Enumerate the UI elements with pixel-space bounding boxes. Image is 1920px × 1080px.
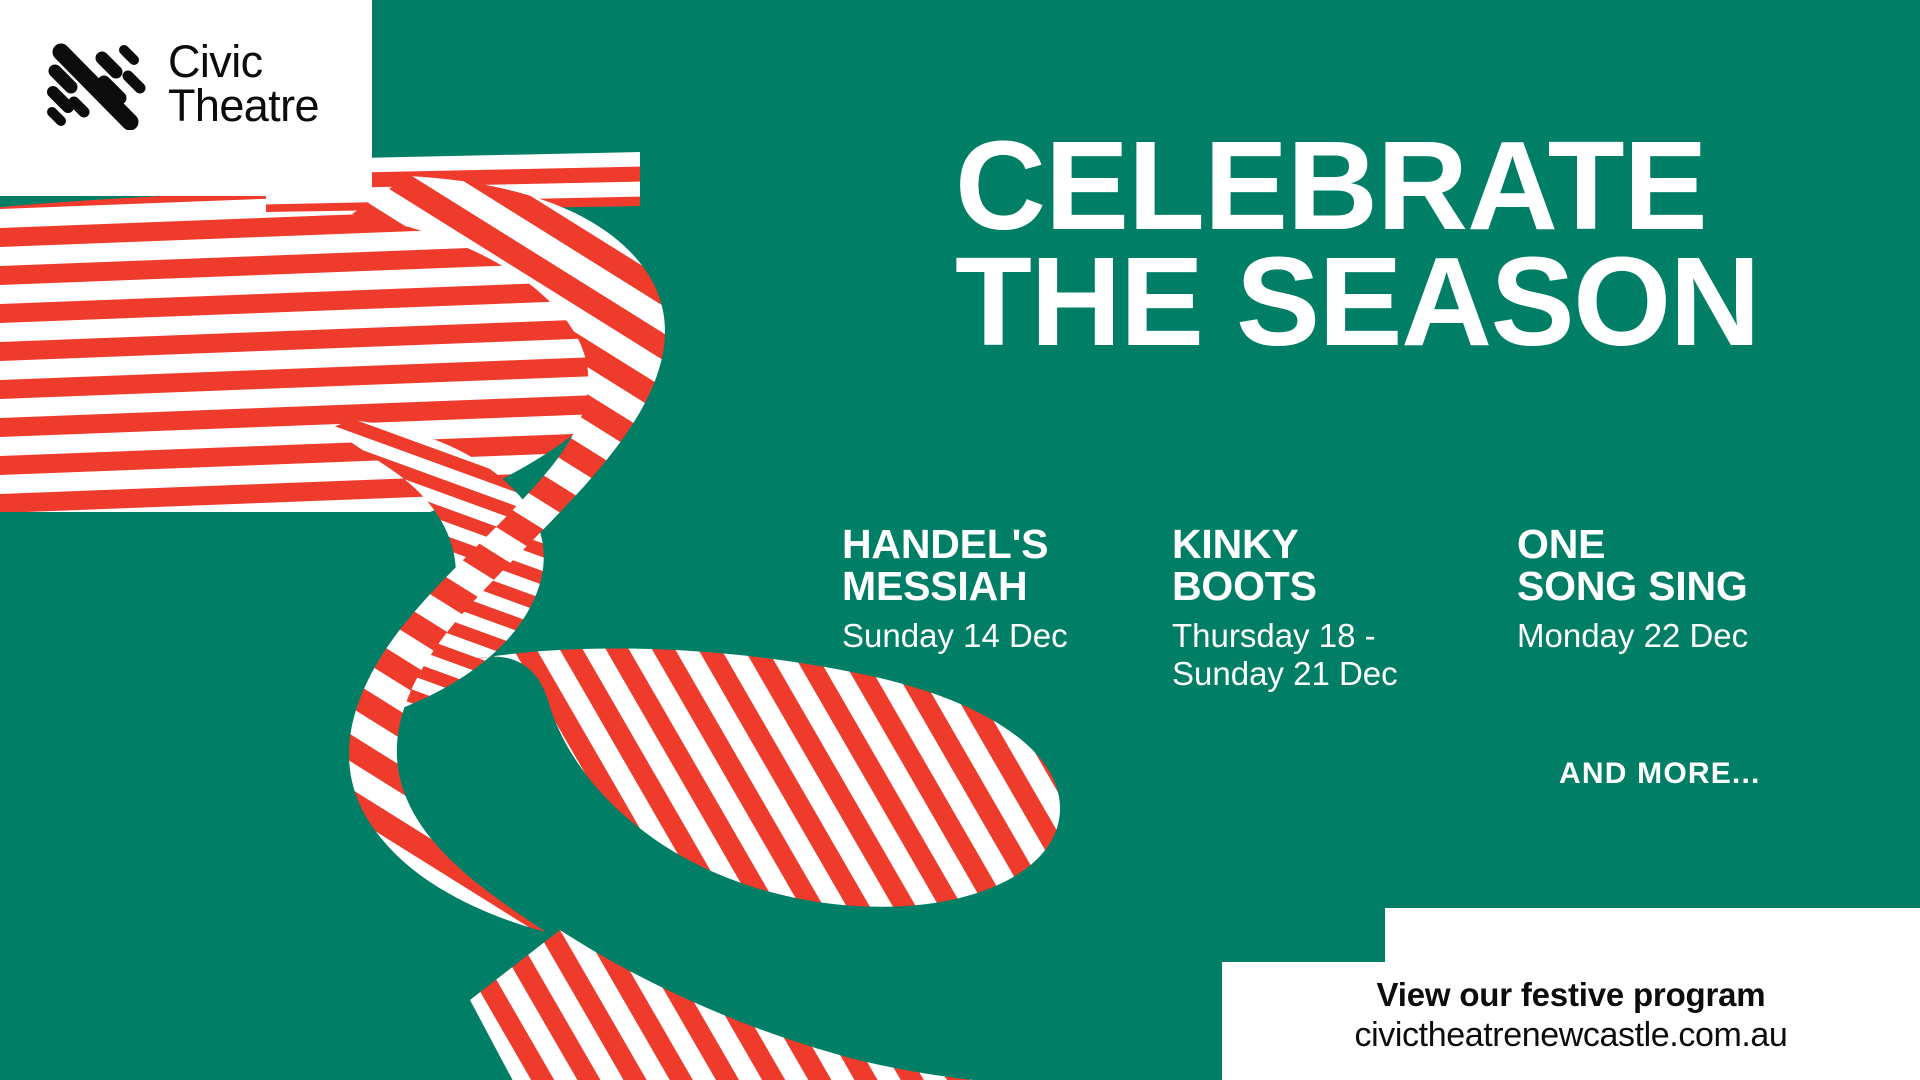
page-title: CELEBRATE THE SEASON: [955, 128, 1759, 360]
brand-logo-plate: Civic Theatre: [0, 0, 372, 196]
callout-website-url[interactable]: civictheatrenewcastle.com.au: [1355, 1015, 1788, 1056]
brand-name-line-1: Civic: [168, 40, 319, 84]
show-date: Thursday 18 - Sunday 21 Dec: [1172, 617, 1517, 694]
show-title: HANDEL'S MESSIAH: [842, 524, 1172, 608]
callout-content: View our festive program civictheatrenew…: [1222, 908, 1920, 1080]
civic-theatre-n-monogram-icon: [44, 38, 152, 130]
headline-line-2: THE SEASON: [955, 244, 1759, 360]
brand-lockup: Civic Theatre: [44, 38, 319, 130]
ribbon-lower-tail: [440, 900, 1120, 1080]
festive-season-promo-banner: Civic Theatre CELEBRATE THE SEASON HANDE…: [0, 0, 1920, 1080]
show-title: KINKY BOOTS: [1172, 524, 1517, 608]
and-more-label: AND MORE...: [1559, 757, 1761, 791]
show-date: Monday 22 Dec: [1517, 617, 1847, 655]
show-listings: HANDEL'S MESSIAH Sunday 14 Dec KINKY BOO…: [842, 524, 1847, 693]
callout-heading: View our festive program: [1377, 974, 1766, 1015]
show-listing-item: KINKY BOOTS Thursday 18 - Sunday 21 Dec: [1172, 524, 1517, 693]
show-listing-item: ONE SONG SING Monday 22 Dec: [1517, 524, 1847, 693]
headline-line-1: CELEBRATE: [955, 128, 1759, 244]
brand-name: Civic Theatre: [168, 40, 319, 127]
show-listing-item: HANDEL'S MESSIAH Sunday 14 Dec: [842, 524, 1172, 693]
program-callout[interactable]: View our festive program civictheatrenew…: [1222, 908, 1920, 1080]
brand-name-line-2: Theatre: [168, 84, 319, 128]
show-title: ONE SONG SING: [1517, 524, 1847, 608]
show-date: Sunday 14 Dec: [842, 617, 1172, 655]
